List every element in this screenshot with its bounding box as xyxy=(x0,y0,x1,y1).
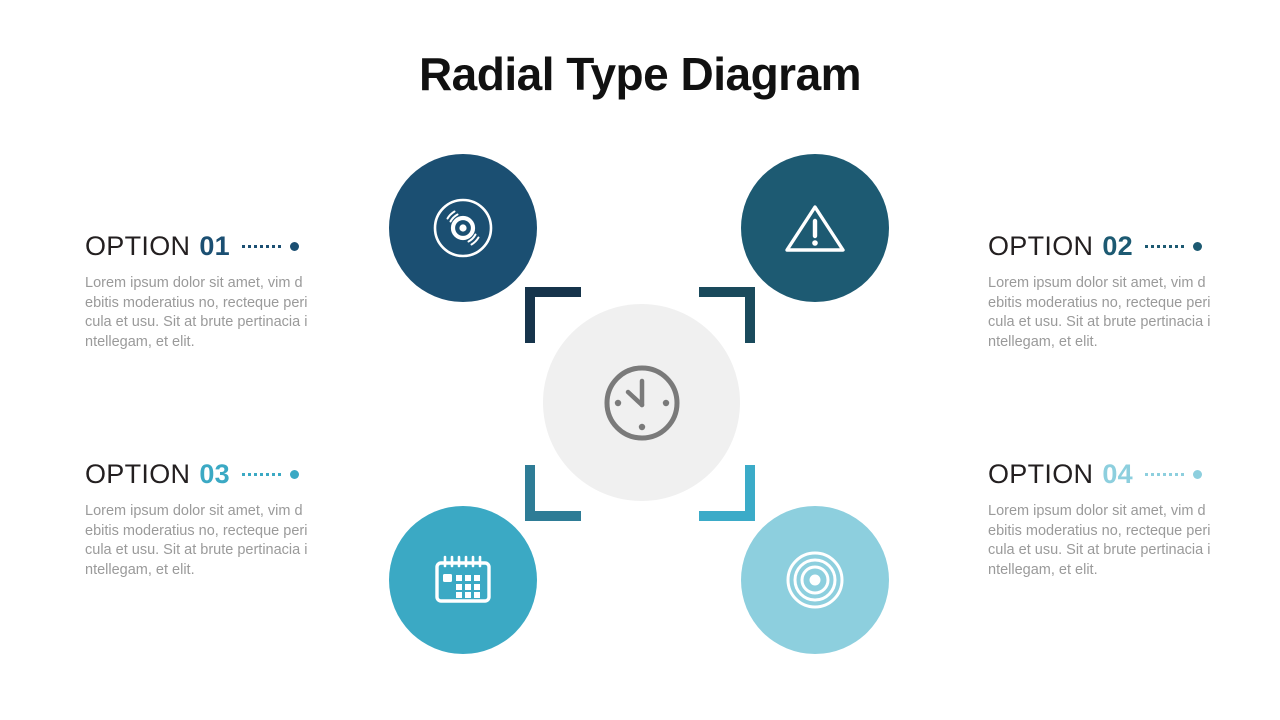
radial-diagram xyxy=(0,0,1280,720)
node-option-02[interactable] xyxy=(741,154,889,302)
node-option-04[interactable] xyxy=(741,506,889,654)
clock-icon xyxy=(596,357,688,449)
calendar-icon xyxy=(427,544,499,616)
center-hub xyxy=(543,304,740,501)
target-rings-icon xyxy=(779,544,851,616)
node-option-03[interactable] xyxy=(389,506,537,654)
node-option-01[interactable] xyxy=(389,154,537,302)
compact-disc-icon xyxy=(427,192,499,264)
slide-canvas: Radial Type Diagram OPTION 01 Lorem ipsu… xyxy=(0,0,1280,720)
warning-triangle-icon xyxy=(779,192,851,264)
